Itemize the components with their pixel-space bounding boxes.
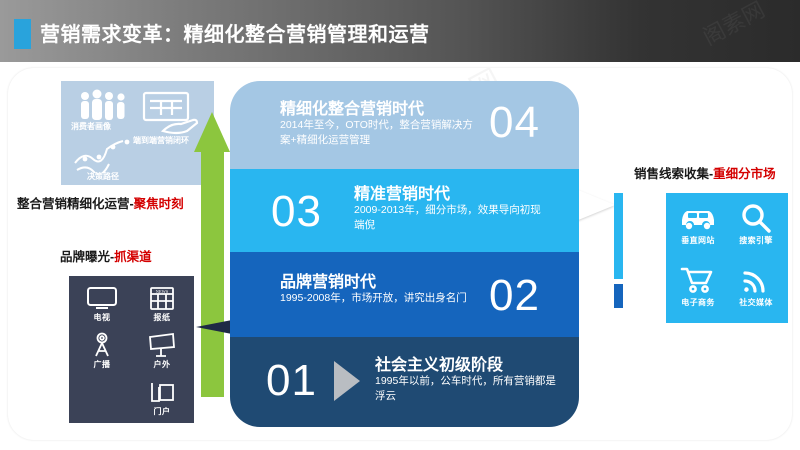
- play-triangle-icon: [334, 361, 360, 401]
- right-connector-sliver: [614, 193, 623, 279]
- media-label-portal: 门户: [133, 406, 191, 417]
- annotation-sales-leads: 销售线索收集-重细分市场: [634, 163, 776, 182]
- page-title: 营销需求变革：精细化整合营销管理和运营: [40, 18, 430, 47]
- digital-channel-box: 垂直网站 搜索引擎 电子商务: [666, 193, 788, 323]
- era-desc-04: 2014年至今，OTO时代，整合营销解决方案+精细化运营管理: [280, 118, 476, 148]
- channel-label-ecommerce: 电子商务: [669, 297, 727, 308]
- consumer-portrait-label: 消费者画像: [71, 121, 111, 132]
- growth-arrow-icon: [194, 112, 230, 397]
- annotation-highlight: 重细分市场: [713, 167, 776, 181]
- content-card: 阁素网 消费者画像: [8, 68, 792, 440]
- era-number-01: 01: [266, 359, 317, 403]
- annotation-integrated-marketing: 整合营销精细化运营-聚焦时刻: [17, 193, 184, 212]
- era-panel-03[interactable]: 03 精准营销时代 2009-2013年，细分市场，效果导向初现端倪: [230, 169, 579, 252]
- search-icon: [727, 201, 785, 235]
- traditional-media-box: 电视 NEWS 报纸: [69, 276, 194, 423]
- era-title-03: 精准营销时代: [354, 180, 450, 204]
- channel-item-search-engine: 搜索引擎: [727, 201, 785, 246]
- media-item-newspaper: NEWS 报纸: [133, 285, 191, 323]
- arrow-head: [194, 112, 230, 152]
- era-number-02: 02: [489, 274, 540, 318]
- end-to-end-loop-label: 端到端营销闭环: [133, 135, 189, 146]
- arrow-shaft: [201, 150, 224, 397]
- annotation-highlight: 抓渠道: [114, 250, 152, 264]
- era-desc-03: 2009-2013年，细分市场，效果导向初现端倪: [354, 203, 550, 233]
- era-desc-02: 1995-2008年，市场开放，讲究出身名门: [280, 291, 496, 306]
- era-number-03: 03: [271, 190, 322, 234]
- era-panel-01[interactable]: 01 社会主义初级阶段 1995年以前，公车时代，所有营销都是浮云: [230, 337, 579, 427]
- billboard-icon: [133, 332, 191, 358]
- era-panel-04[interactable]: 精细化整合营销时代 2014年至今，OTO时代，整合营销解决方案+精细化运营管理…: [230, 81, 579, 169]
- slide-canvas: 营销需求变革：精细化整合营销管理和运营 阁素网 阁素网 消费者画像: [0, 0, 800, 450]
- media-label-newspaper: 报纸: [133, 312, 191, 323]
- tv-icon: [73, 285, 131, 311]
- decision-path-label: 决策路径: [87, 171, 119, 182]
- wifi-signal-icon: [727, 263, 785, 297]
- media-item-tv: 电视: [73, 285, 131, 323]
- era-panel-02[interactable]: 品牌营销时代 1995-2008年，市场开放，讲究出身名门 02: [230, 252, 579, 337]
- title-bar: 营销需求变革：精细化整合营销管理和运营 阁素网: [0, 0, 800, 62]
- title-accent-square: [14, 19, 31, 49]
- annotation-prefix: 整合营销精细化运营-: [17, 197, 134, 211]
- media-item-radio: 广播: [73, 332, 131, 370]
- right-connector-sliver-lower: [614, 284, 623, 308]
- media-label-radio: 广播: [73, 359, 131, 370]
- car-icon: [669, 201, 727, 235]
- connector-wedge-left: [196, 320, 232, 334]
- channel-item-ecommerce: 电子商务: [669, 263, 727, 308]
- media-item-portal: 门户: [133, 379, 191, 417]
- radio-tower-icon: [73, 332, 131, 358]
- era-panel-stack: 精细化整合营销时代 2014年至今，OTO时代，整合营销解决方案+精细化运营管理…: [230, 81, 579, 427]
- channel-label-vertical-site: 垂直网站: [669, 235, 727, 246]
- media-label-outdoor: 户外: [133, 359, 191, 370]
- era-desc-01: 1995年以前，公车时代，所有营销都是浮云: [375, 374, 560, 404]
- consumer-insight-box: 消费者画像 端到端营销闭环: [61, 81, 214, 185]
- svg-text:NEWS: NEWS: [156, 289, 169, 294]
- annotation-prefix: 销售线索收集-: [634, 167, 713, 181]
- era-number-04: 04: [489, 101, 540, 145]
- era-title-01: 社会主义初级阶段: [375, 351, 503, 375]
- channel-label-social-media: 社交媒体: [727, 297, 785, 308]
- media-label-tv: 电视: [73, 312, 131, 323]
- titlebar-watermark: 阁素网: [696, 0, 769, 52]
- channel-label-search-engine: 搜索引擎: [727, 235, 785, 246]
- era-title-04: 精细化整合营销时代: [280, 95, 424, 119]
- annotation-highlight: 聚焦时刻: [134, 197, 184, 211]
- channel-item-vertical-site: 垂直网站: [669, 201, 727, 246]
- newspaper-icon: NEWS: [133, 285, 191, 311]
- annotation-prefix: 品牌曝光-: [60, 250, 114, 264]
- shopping-cart-icon: [669, 263, 727, 297]
- annotation-brand-exposure: 品牌曝光-抓渠道: [60, 246, 152, 265]
- portal-window-icon: [133, 379, 191, 405]
- era-title-02: 品牌营销时代: [280, 268, 376, 292]
- channel-item-social-media: 社交媒体: [727, 263, 785, 308]
- media-item-outdoor: 户外: [133, 332, 191, 370]
